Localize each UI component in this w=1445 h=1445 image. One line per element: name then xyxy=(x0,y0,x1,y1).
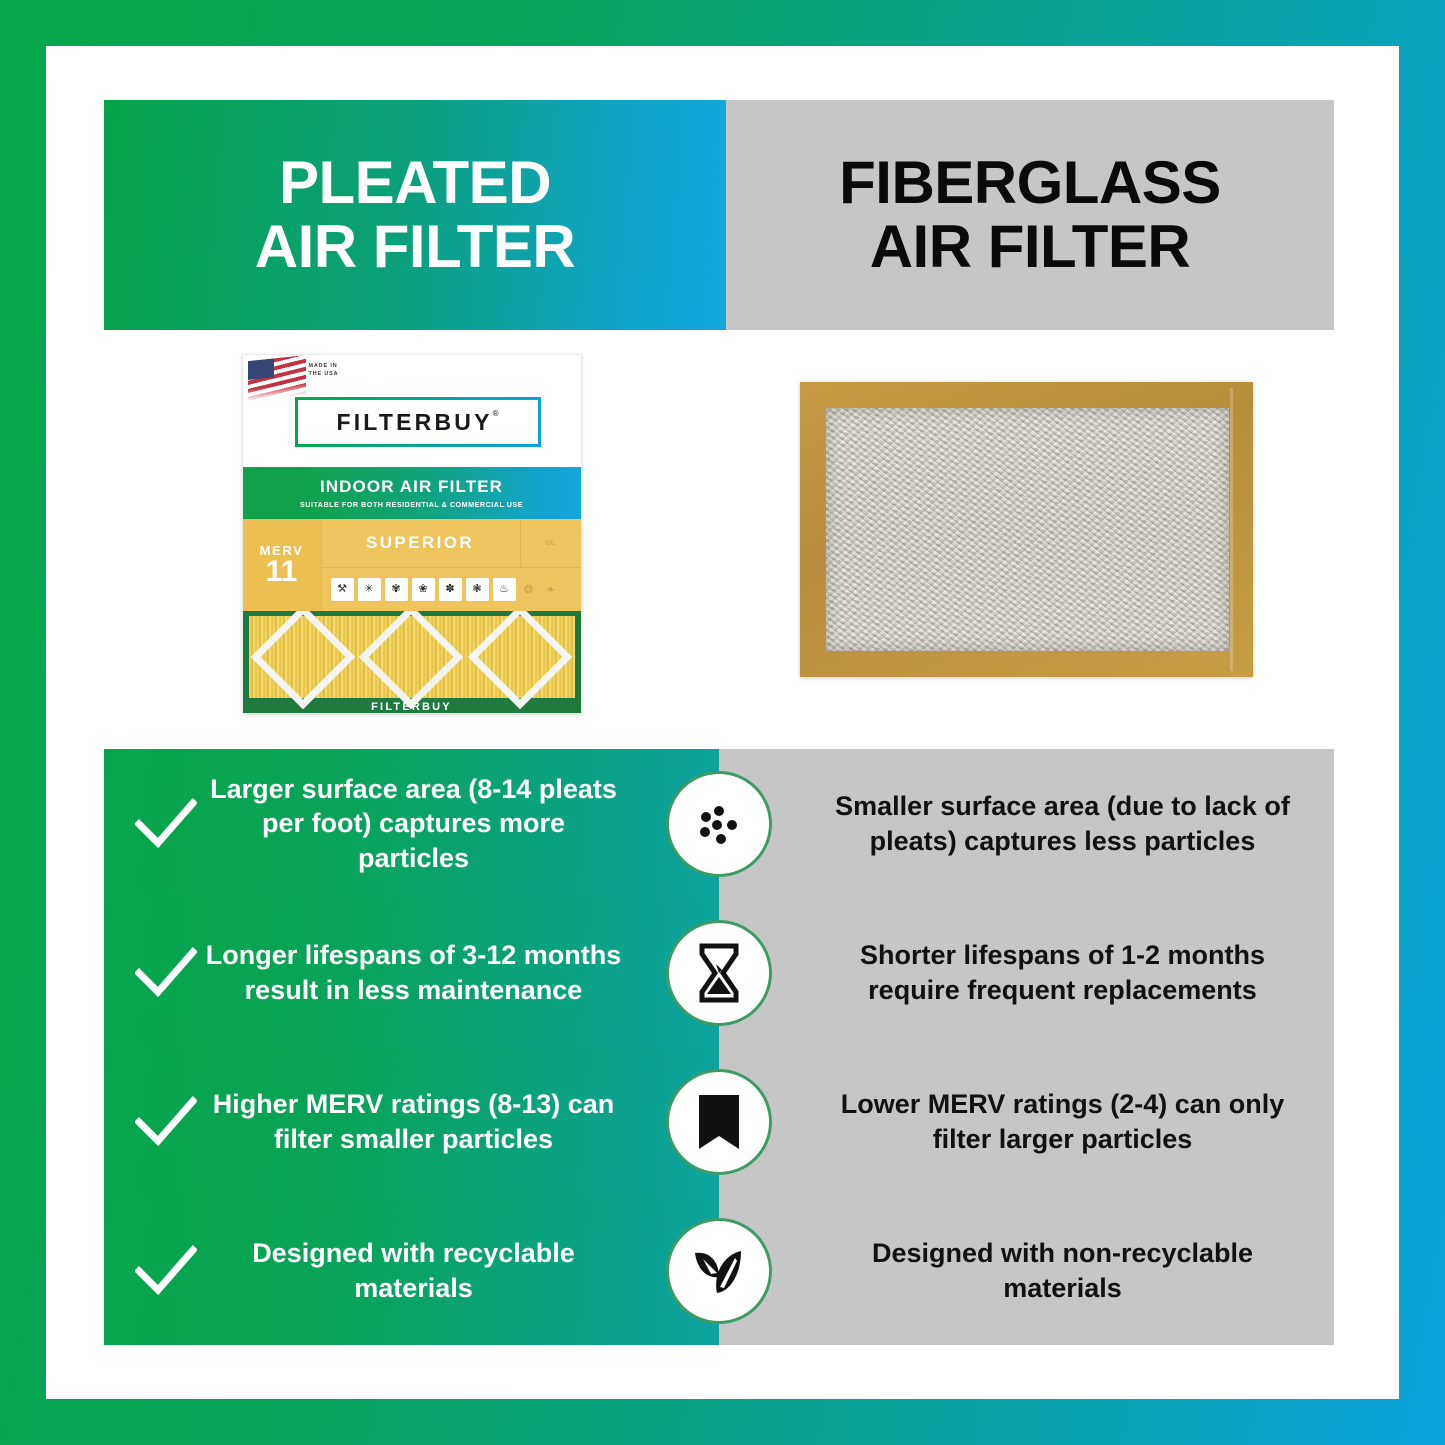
row-fiberglass-side: Smaller surface area (due to lack of ple… xyxy=(719,749,1334,898)
comparison-infographic: PLEATED AIR FILTER FIBERGLASS AIR FILTER xyxy=(104,100,1334,1345)
box-top-white: MADE INTHE USA FILTERBUY® xyxy=(243,355,581,467)
row-fiberglass-side: Shorter lifespans of 1-2 months require … xyxy=(719,898,1334,1047)
row-pleated-text: Longer lifespans of 3-12 months result i… xyxy=(204,938,623,1007)
check-icon xyxy=(128,947,204,999)
pleated-product-cell: MADE INTHE USA FILTERBUY® INDOOR AIR FIL… xyxy=(104,330,719,749)
particles-icon xyxy=(666,771,772,877)
leaves-icon xyxy=(666,1218,772,1324)
header-pleated-line2: AIR FILTER xyxy=(255,213,576,280)
usa-flag-icon xyxy=(248,355,306,401)
row-fiberglass-side: Designed with non-recyclable materials xyxy=(719,1196,1334,1345)
outer-gradient-border: PLEATED AIR FILTER FIBERGLASS AIR FILTER xyxy=(0,0,1445,1445)
comparison-row: Designed with recyclable materials Desig… xyxy=(104,1196,1334,1345)
insect-icon: ✳ xyxy=(358,578,381,601)
lint-icon: ❂ xyxy=(520,579,538,599)
box-banner-subtitle: SUITABLE FOR BOTH RESIDENTIAL & COMMERCI… xyxy=(300,500,523,509)
bacteria-icon: ✾ xyxy=(385,578,408,601)
row-pleated-text: Larger surface area (8-14 pleats per foo… xyxy=(204,772,623,876)
check-icon xyxy=(128,1096,204,1148)
header-fiberglass: FIBERGLASS AIR FILTER xyxy=(726,100,1334,330)
hourglass-icon xyxy=(666,920,772,1026)
row-fiberglass-side: Lower MERV ratings (2-4) can only filter… xyxy=(719,1047,1334,1196)
box-spec-band: MERV 11 SUPERIOR UL ⚒ ✳ xyxy=(243,519,581,611)
mold-icon: ❀ xyxy=(412,578,435,601)
row-pleated-text: Designed with recyclable materials xyxy=(204,1236,623,1305)
diamond-shape xyxy=(468,611,573,709)
merv-rating-block: MERV 11 xyxy=(243,519,322,611)
bookmark-icon xyxy=(666,1069,772,1175)
comparison-row: Higher MERV ratings (8-13) can filter sm… xyxy=(104,1047,1334,1196)
pet-dander-icon: ❃ xyxy=(466,578,489,601)
filterbuy-logo: FILTERBUY® xyxy=(295,397,541,447)
tier-label: SUPERIOR xyxy=(321,519,520,567)
header-fiberglass-line1: FIBERGLASS xyxy=(839,149,1221,216)
row-pleated-side: Higher MERV ratings (8-13) can filter sm… xyxy=(104,1047,719,1196)
row-fiberglass-text: Lower MERV ratings (2-4) can only filter… xyxy=(815,1087,1310,1156)
header-pleated: PLEATED AIR FILTER xyxy=(104,100,726,330)
header-band: PLEATED AIR FILTER FIBERGLASS AIR FILTER xyxy=(104,100,1334,330)
row-pleated-side: Larger surface area (8-14 pleats per foo… xyxy=(104,749,719,898)
diamond-shape xyxy=(359,611,464,709)
box-banner-title: INDOOR AIR FILTER xyxy=(320,477,503,497)
white-canvas: PLEATED AIR FILTER FIBERGLASS AIR FILTER xyxy=(46,46,1399,1399)
pollen-icon: ✽ xyxy=(439,578,462,601)
smoke-icon: ♨ xyxy=(493,578,516,601)
box-feature-icon-row: ⚒ ✳ ✾ ❀ ✽ ❃ ♨ ❂ ❧ xyxy=(321,567,581,611)
box-filter-window: FILTERBUY xyxy=(243,611,581,714)
check-icon xyxy=(128,1245,204,1297)
ul-seal-icon: UL xyxy=(520,519,581,567)
made-in-usa-label: MADE INTHE USA xyxy=(309,362,339,378)
fiberglass-filter-image xyxy=(800,382,1253,677)
header-pleated-line1: PLEATED xyxy=(279,149,551,216)
trademark-symbol: ® xyxy=(493,409,499,418)
box-banner: INDOOR AIR FILTER SUITABLE FOR BOTH RESI… xyxy=(243,467,581,519)
row-pleated-text: Higher MERV ratings (8-13) can filter sm… xyxy=(204,1087,623,1156)
ul-seal-text: UL xyxy=(546,540,555,547)
comparison-rows: Larger surface area (8-14 pleats per foo… xyxy=(104,749,1334,1345)
dust-icon: ⚒ xyxy=(331,578,354,601)
fiberglass-product-cell xyxy=(719,330,1334,749)
product-images-band: MADE INTHE USA FILTERBUY® INDOOR AIR FIL… xyxy=(104,330,1334,749)
box-footer-brand: FILTERBUY xyxy=(243,701,581,713)
diamond-shape xyxy=(251,611,356,709)
comparison-row: Larger surface area (8-14 pleats per foo… xyxy=(104,749,1334,898)
row-fiberglass-text: Smaller surface area (due to lack of ple… xyxy=(815,789,1310,858)
fiberglass-media-texture xyxy=(826,408,1229,651)
merv-value: 11 xyxy=(266,558,298,587)
row-pleated-side: Longer lifespans of 3-12 months result i… xyxy=(104,898,719,1047)
header-fiberglass-line2: AIR FILTER xyxy=(870,213,1191,280)
row-fiberglass-text: Designed with non-recyclable materials xyxy=(815,1236,1310,1305)
diamond-support-grid xyxy=(249,616,575,698)
check-icon xyxy=(128,798,204,850)
filterbuy-wordmark: FILTERBUY xyxy=(336,409,492,436)
row-pleated-side: Designed with recyclable materials xyxy=(104,1196,719,1345)
comparison-row: Longer lifespans of 3-12 months result i… xyxy=(104,898,1334,1047)
odor-icon: ❧ xyxy=(542,579,560,599)
row-fiberglass-text: Shorter lifespans of 1-2 months require … xyxy=(815,938,1310,1007)
filterbuy-box-image: MADE INTHE USA FILTERBUY® INDOOR AIR FIL… xyxy=(242,354,582,714)
